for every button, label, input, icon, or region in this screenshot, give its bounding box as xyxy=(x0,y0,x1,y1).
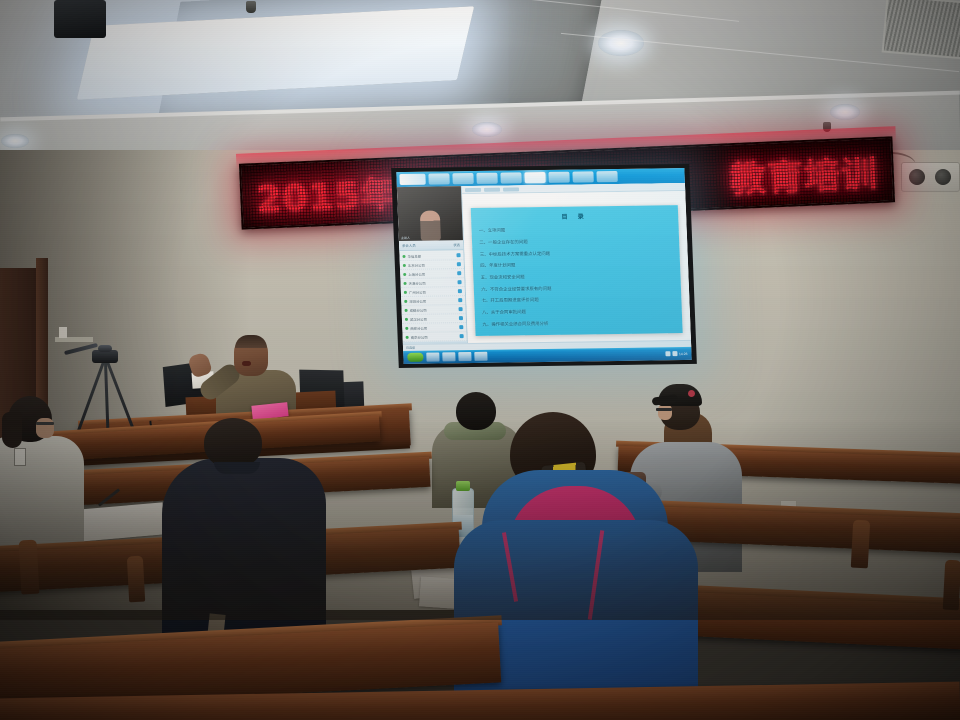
toolbar-button-meeting[interactable] xyxy=(428,173,449,184)
projection-screen: 主讲人 参会人员 状态 华信总部北京分公司上海分公司天津分公司广州分公司深圳分公… xyxy=(391,164,697,368)
participant-status-icon xyxy=(403,281,406,284)
participant-mic-icon[interactable] xyxy=(457,271,461,275)
speaker-cone-right xyxy=(935,169,951,185)
room-shadow xyxy=(0,420,960,620)
led-banner-text-right: 教育培训 xyxy=(729,145,879,203)
system-tray[interactable]: 14:26 xyxy=(665,351,688,356)
slide-agenda-item: 六、不符合企业经营要求原有的问题 xyxy=(481,284,674,293)
presentation-panel: 目 录 一、立项问题二、一般企业存在的问题三、中标后技术方案需重点认定问题四、年… xyxy=(462,183,691,350)
participant-mic-icon[interactable] xyxy=(459,316,463,320)
participant-mic-icon[interactable] xyxy=(459,307,463,311)
downlight-icon-4 xyxy=(1,134,29,148)
participant-name: 武汉分公司 xyxy=(410,316,457,322)
roster-header-right: 状态 xyxy=(453,242,460,247)
video-camera xyxy=(54,0,106,38)
participant-status-icon xyxy=(406,335,409,338)
slide-stage: 目 录 一、立项问题二、一般企业存在的问题三、中标后技术方案需重点认定问题四、年… xyxy=(462,191,691,350)
participant-name: 深圳分公司 xyxy=(409,298,456,304)
slide-agenda-item: 八、关于合同审批问题 xyxy=(482,307,675,316)
toolbar-button-rollcall[interactable] xyxy=(524,172,545,183)
roster-header-left: 参会人员 xyxy=(402,243,416,248)
toolbar-button-settings[interactable] xyxy=(548,172,569,183)
attendee-grey-cap-accent xyxy=(688,390,695,397)
attendee-grey-glasses-icon xyxy=(656,408,672,411)
participant-status-icon xyxy=(405,317,408,320)
slide-title: 目 录 xyxy=(478,211,671,223)
doc-chip-2[interactable] xyxy=(484,187,500,191)
participant-status-icon xyxy=(404,290,407,293)
participant-mic-icon[interactable] xyxy=(460,334,464,338)
participant-name: 成都分公司 xyxy=(409,307,456,313)
slide-agenda-list: 一、立项问题二、一般企业存在的问题三、中标后技术方案需重点认定问题四、年度计划问… xyxy=(479,223,675,331)
taskbar-clock: 14:26 xyxy=(679,351,688,355)
slide-agenda-item: 三、中标后技术方案需重点认定问题 xyxy=(480,249,673,258)
app-body: 主讲人 参会人员 状态 华信总部北京分公司上海分公司天津分公司广州分公司深圳分公… xyxy=(397,183,691,351)
slide-agenda-item: 四、年度计划问题 xyxy=(480,260,673,269)
wall-speaker-icon xyxy=(901,162,960,192)
downlight-icon-3 xyxy=(830,104,860,120)
participant-name: 南京分公司 xyxy=(411,334,458,340)
slide-agenda-item: 五、现金流和安全问题 xyxy=(481,272,674,281)
toolbar-button-record[interactable] xyxy=(500,172,521,183)
speaker-cone-left xyxy=(909,169,925,185)
presenter-mouth xyxy=(242,361,251,366)
participant-name: 天津分公司 xyxy=(408,280,455,286)
participant-mic-icon[interactable] xyxy=(457,262,461,266)
toolbar-button-help[interactable] xyxy=(572,171,593,182)
participant-status-icon xyxy=(405,308,408,311)
participant-mic-icon[interactable] xyxy=(459,325,463,329)
slide-agenda-item: 二、一般企业存在的问题 xyxy=(479,237,672,246)
participant-mic-icon[interactable] xyxy=(456,253,460,257)
slide-agenda-item: 九、操作相关业绩合同及费用分析 xyxy=(482,319,675,328)
toolbar-button-share[interactable] xyxy=(476,173,497,184)
participant-status-icon xyxy=(403,272,406,275)
participant-name: 上海分公司 xyxy=(408,271,455,277)
participant-mic-icon[interactable] xyxy=(458,289,462,293)
participant-status-icon xyxy=(402,254,405,257)
participant-name: 西安分公司 xyxy=(410,325,457,331)
sprinkler-head-1 xyxy=(246,1,256,13)
video-participant-silhouette xyxy=(420,210,441,240)
participant-mic-icon[interactable] xyxy=(457,280,461,284)
toolbar-button-exit[interactable] xyxy=(596,171,617,182)
app-logo-icon xyxy=(399,174,425,185)
tray-volume-icon[interactable] xyxy=(672,351,677,356)
participants-panel: 主讲人 参会人员 状态 华信总部北京分公司上海分公司天津分公司广州分公司深圳分公… xyxy=(397,186,468,351)
participant-mic-icon[interactable] xyxy=(458,298,462,302)
taskbar-item-2[interactable] xyxy=(442,352,455,361)
participant-name: 北京分公司 xyxy=(408,262,455,268)
ac-vent-icon xyxy=(882,0,960,59)
windows-taskbar[interactable]: 14:26 xyxy=(403,347,692,364)
participant-name: 华信总部 xyxy=(407,253,454,259)
video-tile-label: 主讲人 xyxy=(401,236,410,240)
participant-status-icon xyxy=(405,326,408,329)
doc-chip-1[interactable] xyxy=(465,187,481,191)
participant-status-icon xyxy=(404,299,407,302)
app-status-text: 已连接 xyxy=(406,346,415,350)
tripod-knob xyxy=(98,345,112,352)
participant-list[interactable]: 华信总部北京分公司上海分公司天津分公司广州分公司深圳分公司成都分公司武汉分公司西… xyxy=(399,250,467,342)
wall-sensor-box xyxy=(59,327,67,338)
taskbar-item-4[interactable] xyxy=(474,352,487,361)
participant-name: 广州分公司 xyxy=(409,289,456,295)
toolbar-button-join[interactable] xyxy=(452,173,473,184)
downlight-icon-2 xyxy=(472,122,502,137)
start-button[interactable] xyxy=(407,353,423,362)
downlight-icon-1 xyxy=(598,30,644,56)
conference-room-photo: 2015年度HXQC 教育培训 xyxy=(0,0,960,720)
taskbar-item-3[interactable] xyxy=(458,352,471,361)
video-tile[interactable]: 主讲人 xyxy=(397,186,463,241)
slide-agenda-item: 一、立项问题 xyxy=(479,225,672,234)
participant-status-icon xyxy=(403,263,406,266)
taskbar-item-1[interactable] xyxy=(426,352,439,361)
presenter-hair xyxy=(235,335,267,348)
slide-agenda-item: 七、开工后周期进度评价问题 xyxy=(481,296,674,305)
projected-desktop: 主讲人 参会人员 状态 华信总部北京分公司上海分公司天津分公司广州分公司深圳分公… xyxy=(396,168,691,364)
doc-chip-3[interactable] xyxy=(503,187,519,191)
powerpoint-slide: 目 录 一、立项问题二、一般企业存在的问题三、中标后技术方案需重点认定问题四、年… xyxy=(471,206,682,336)
tray-network-icon[interactable] xyxy=(665,351,670,356)
